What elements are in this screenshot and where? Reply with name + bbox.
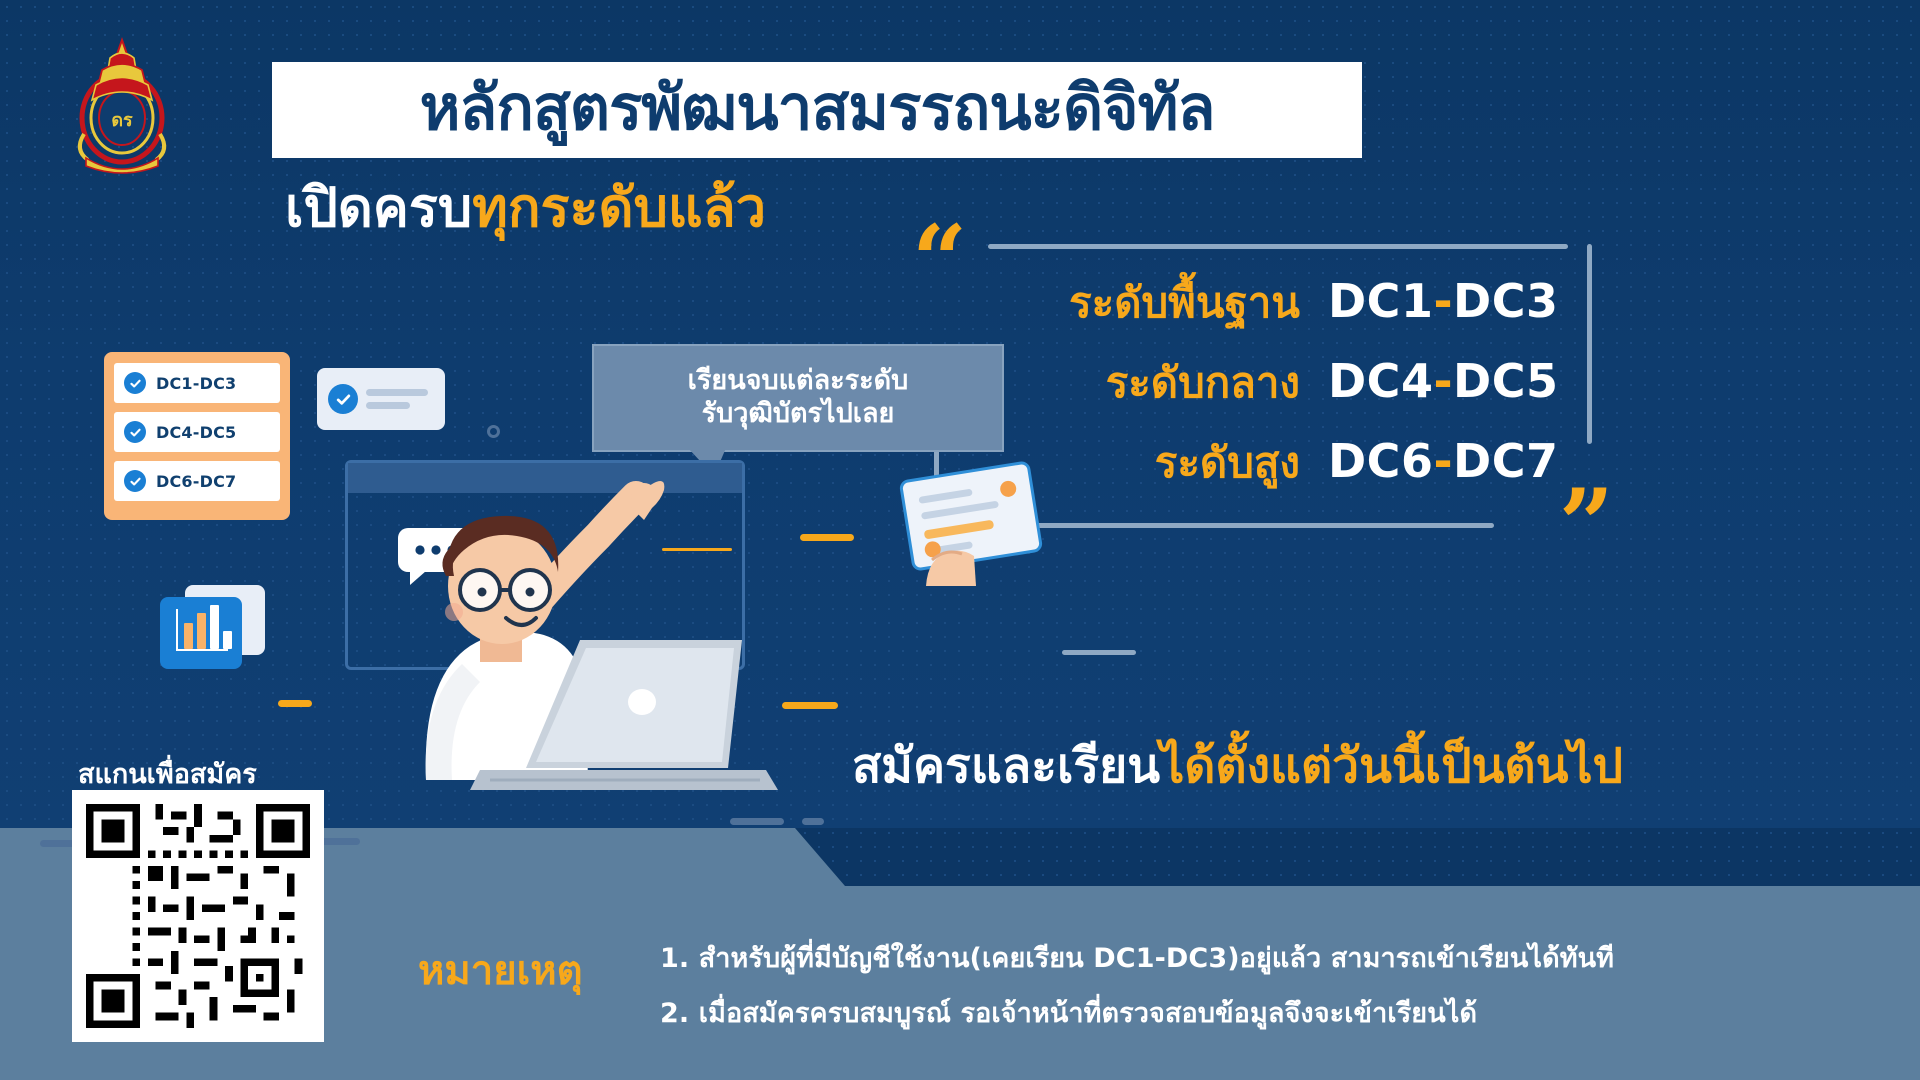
levels-list: ระดับพื้นฐาน DC1-DC3 ระดับกลาง DC4-DC5 ร…: [978, 270, 1578, 502]
message-card-illustration: [317, 368, 445, 430]
level-name: ระดับกลาง: [1106, 350, 1300, 416]
tick-mark: [278, 700, 312, 707]
level-code-b: DC7: [1453, 434, 1558, 488]
level-row: ระดับกลาง DC4-DC5: [978, 350, 1578, 422]
level-code: DC1-DC3: [1328, 274, 1578, 328]
tick-mark-steel: [1062, 650, 1136, 655]
level-code-a: DC1: [1328, 274, 1433, 328]
call-to-action: สมัครและเรียนได้ตั้งแต่วันนี้เป็นต้นไป: [852, 740, 1623, 793]
tick-mark: [782, 702, 838, 709]
level-code-b: DC3: [1453, 274, 1558, 328]
notes-list: 1. สำหรับผู้ที่มีบัญชีใช้งาน(เคยเรียน DC…: [660, 936, 1614, 1034]
ministry-emblem-icon: ดร: [66, 30, 178, 180]
level-code-b: DC5: [1453, 354, 1558, 408]
checklist-item: DC4-DC5: [114, 412, 280, 452]
level-code-dash: -: [1433, 354, 1453, 408]
checklist-item-label: DC1-DC3: [156, 374, 236, 393]
check-circle-icon: [124, 421, 146, 443]
hand-holding-certificate-icon: [918, 530, 988, 592]
check-circle-icon: [124, 372, 146, 394]
level-code: DC4-DC5: [1328, 354, 1578, 408]
svg-text:ดร: ดร: [111, 110, 133, 131]
level-row: ระดับสูง DC6-DC7: [978, 430, 1578, 502]
frame-rule-top: [988, 244, 1568, 249]
tick-mark: [800, 534, 854, 541]
level-code-dash: -: [1433, 274, 1453, 328]
cta-white-part: สมัครและเรียน: [852, 738, 1160, 794]
subtitle-white-part: เปิดครบ: [285, 176, 472, 239]
bubble-line-1: เรียนจบแต่ละระดับ: [688, 365, 909, 398]
desk-line: [802, 818, 824, 825]
subtitle-orange-part: ทุกระดับแล้ว: [472, 176, 766, 239]
checklist-item-label: DC4-DC5: [156, 423, 236, 442]
speech-bubble: เรียนจบแต่ละระดับ รับวุฒิบัตรไปเลย: [592, 344, 1004, 452]
check-circle-icon: [328, 384, 358, 414]
poster-canvas: ดร หลักสูตรพัฒนาสมรรถนะดิจิทัล เปิดครบทุ…: [0, 0, 1920, 1080]
quote-close-icon: ”: [1559, 496, 1614, 554]
checklist-item: DC6-DC7: [114, 461, 280, 501]
notes-heading: หมายเหตุ: [418, 938, 583, 1002]
level-checklist-card: DC1-DC3 DC4-DC5 DC6-DC7: [104, 352, 290, 520]
chart-card-illustration: [160, 597, 242, 669]
note-item: 1. สำหรับผู้ที่มีบัญชีใช้งาน(เคยเรียน DC…: [660, 936, 1614, 979]
note-item: 2. เมื่อสมัครครบสมบูรณ์ รอเจ้าหน้าที่ตรว…: [660, 991, 1614, 1034]
frame-rule-right: [1587, 244, 1592, 444]
qr-caption: สแกนเพื่อสมัคร: [78, 752, 257, 795]
bubble-line-2: รับวุฒิบัตรไปเลย: [702, 398, 895, 431]
small-ring-decoration: [662, 548, 732, 551]
desk-line: [730, 818, 784, 825]
checklist-item-label: DC6-DC7: [156, 472, 236, 491]
check-circle-icon: [124, 470, 146, 492]
main-title-plate: หลักสูตรพัฒนาสมรรถนะดิจิทัล: [272, 62, 1362, 158]
level-name: ระดับพื้นฐาน: [1069, 270, 1300, 336]
small-ring-decoration: [487, 425, 500, 438]
subtitle: เปิดครบทุกระดับแล้ว: [285, 178, 766, 237]
qr-code-graphic: [86, 804, 310, 1028]
page-title: หลักสูตรพัฒนาสมรรถนะดิจิทัล: [420, 77, 1215, 139]
quote-open-icon: “: [912, 232, 967, 290]
placeholder-lines: [366, 389, 428, 409]
person-at-laptop-illustration: [330, 450, 850, 790]
level-code-dash: -: [1433, 434, 1453, 488]
cta-orange-part: ได้ตั้งแต่วันนี้เป็นต้นไป: [1160, 738, 1623, 794]
level-code-a: DC4: [1328, 354, 1433, 408]
level-code: DC6-DC7: [1328, 434, 1578, 488]
level-name: ระดับสูง: [1155, 430, 1300, 496]
qr-code[interactable]: [72, 790, 324, 1042]
level-code-a: DC6: [1328, 434, 1433, 488]
checklist-item: DC1-DC3: [114, 363, 280, 403]
level-row: ระดับพื้นฐาน DC1-DC3: [978, 270, 1578, 342]
